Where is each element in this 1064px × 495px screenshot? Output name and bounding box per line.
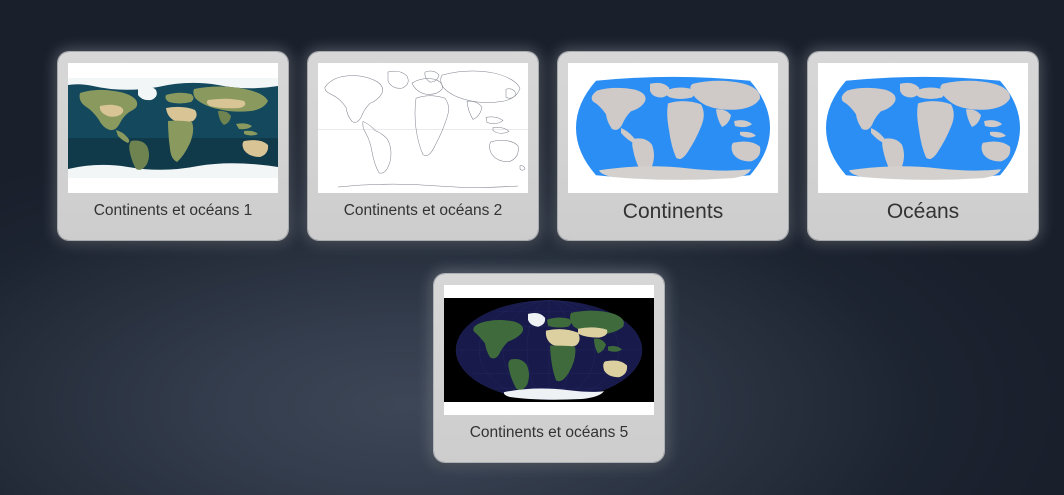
thumbnail-frame[interactable]	[568, 63, 778, 193]
satellite-world-map-thumbnail	[68, 78, 278, 178]
outline-world-map-thumbnail	[318, 65, 528, 191]
thumbnail-gallery: Continents et océans 1	[0, 0, 1064, 495]
thumbnail-card-continents[interactable]: Continents	[558, 52, 788, 240]
card-label: Continents et océans 2	[318, 193, 528, 219]
night-mollweide-world-map-thumbnail	[444, 298, 654, 402]
thumbnail-card-continents-et-oceans-1[interactable]: Continents et océans 1	[58, 52, 288, 240]
blue-robinson-world-map-thumbnail	[818, 69, 1028, 187]
thumbnail-card-oceans[interactable]: Océans	[808, 52, 1038, 240]
thumbnail-frame[interactable]	[68, 63, 278, 193]
thumbnail-frame[interactable]	[818, 63, 1028, 193]
card-label: Continents	[568, 193, 778, 223]
thumbnail-card-continents-et-oceans-2[interactable]: Continents et océans 2	[308, 52, 538, 240]
blue-robinson-world-map-thumbnail	[568, 69, 778, 187]
thumbnail-card-continents-et-oceans-5[interactable]: Continents et océans 5	[434, 274, 664, 462]
thumbnail-frame[interactable]	[318, 63, 528, 193]
card-label: Continents et océans 1	[68, 193, 278, 219]
thumbnail-frame[interactable]	[444, 285, 654, 415]
card-label: Continents et océans 5	[444, 415, 654, 441]
card-label: Océans	[818, 193, 1028, 223]
